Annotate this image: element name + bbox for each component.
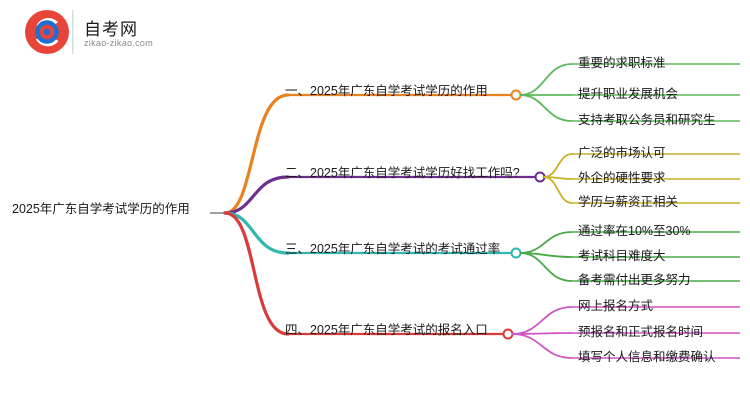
mindmap-leaf-2-2[interactable]: 外企的硬性要求: [578, 172, 666, 185]
mindmap-branch-3[interactable]: 三、2025年广东自学考试的考试通过率: [285, 243, 500, 256]
mindmap-branch-4[interactable]: 四、2025年广东自学考试的报名入口: [285, 324, 488, 337]
mindmap-leaf-1-2[interactable]: 提升职业发展机会: [578, 88, 678, 101]
mindmap-leaf-4-2[interactable]: 预报名和正式报名时间: [578, 326, 703, 339]
mindmap-leaf-3-2[interactable]: 考试科目难度大: [578, 250, 666, 263]
mindmap-leaf-1-1[interactable]: 重要的求职标准: [578, 57, 666, 70]
mindmap-leaf-4-3[interactable]: 填写个人信息和缴费确认: [578, 351, 716, 364]
mindmap-leaf-3-3[interactable]: 备考需付出更多努力: [578, 274, 691, 287]
mindmap-leaf-4-1[interactable]: 网上报名方式: [578, 300, 653, 313]
mindmap-branch-2[interactable]: 二、2025年广东自学考试学历好找工作吗?: [285, 167, 520, 180]
mindmap-leaf-2-3[interactable]: 学历与薪资正相关: [578, 196, 678, 209]
mindmap-canvas: 自考网 zikao-zikao.com: [0, 0, 750, 410]
mindmap-branch-1[interactable]: 一、2025年广东自学考试学历的作用: [285, 85, 488, 98]
mindmap-leaf-2-1[interactable]: 广泛的市场认可: [578, 147, 666, 160]
mindmap-leaf-3-1[interactable]: 通过率在10%至30%: [578, 225, 691, 238]
mindmap-leaf-1-3[interactable]: 支持考取公务员和研究生: [578, 114, 716, 127]
mindmap-root-node[interactable]: 2025年广东自学考试学历的作用: [12, 203, 190, 216]
